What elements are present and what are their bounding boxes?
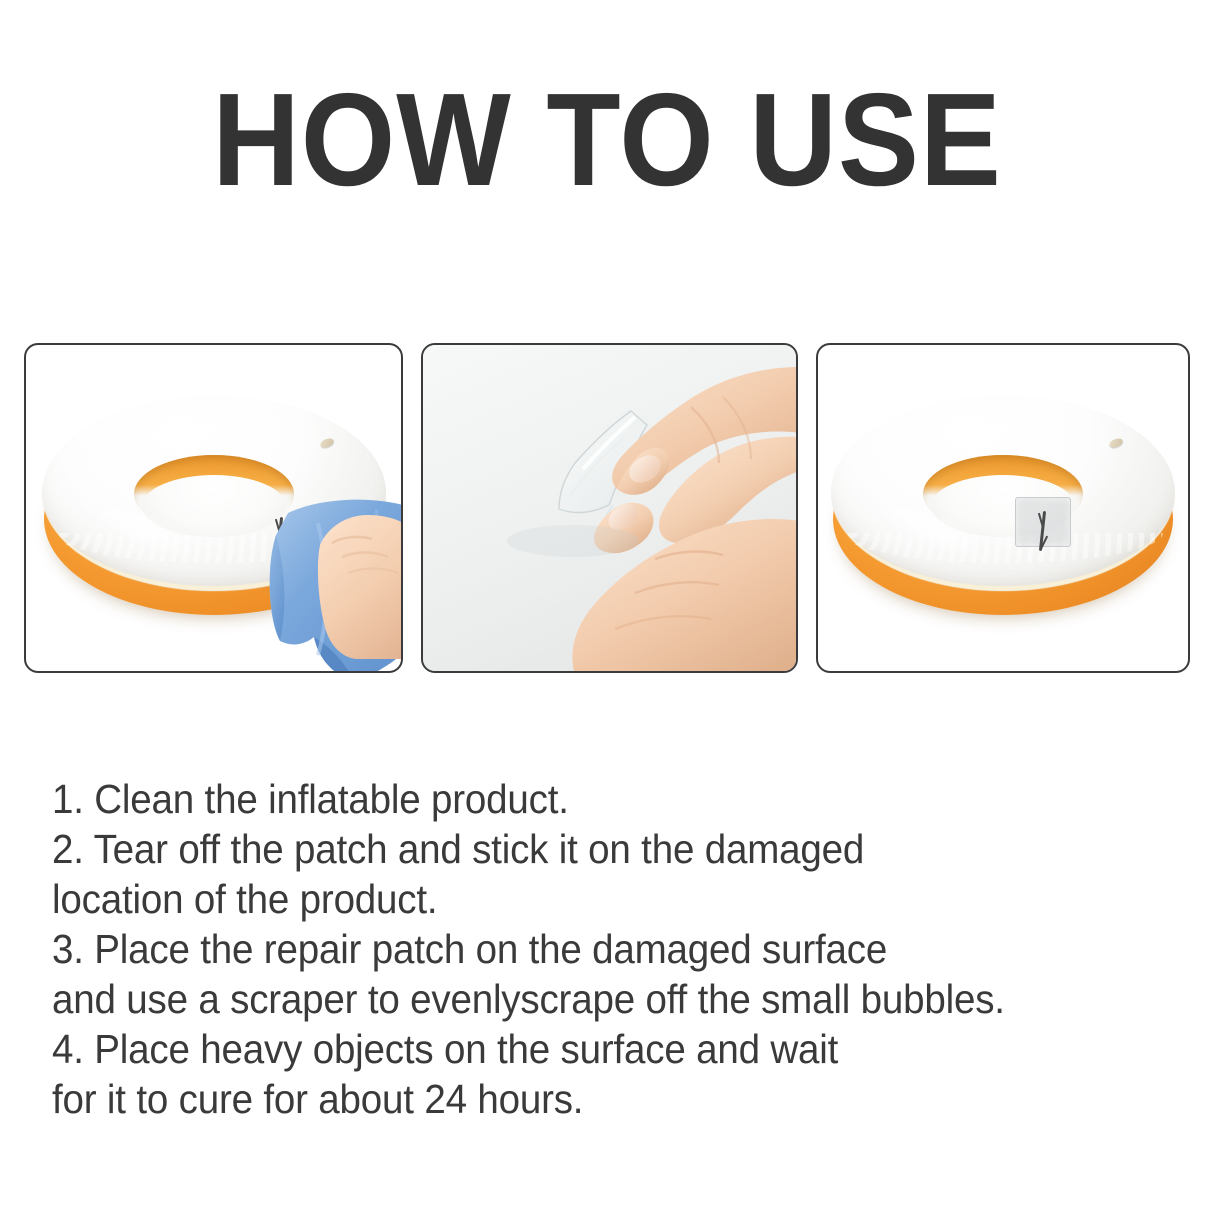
instructions-list: 1. Clean the inflatable product. 2. Tear…	[52, 774, 1114, 1124]
instruction-line: 1. Clean the inflatable product.	[52, 774, 1114, 824]
step-3-image-panel	[816, 343, 1190, 673]
instruction-line: 2. Tear off the patch and stick it on th…	[52, 824, 1114, 874]
hands-peeling-patch-illustration	[423, 345, 798, 673]
hand	[312, 509, 403, 659]
instruction-line: 4. Place heavy objects on the surface an…	[52, 1024, 1114, 1074]
step-3-scene	[818, 345, 1188, 671]
instruction-line: location of the product.	[52, 874, 1114, 924]
page-title: HOW TO USE	[49, 74, 1166, 206]
instruction-line: 3. Place the repair patch on the damaged…	[52, 924, 1114, 974]
step-1-image-panel	[24, 343, 403, 673]
step-1-scene	[26, 345, 401, 671]
instruction-line: for it to cure for about 24 hours.	[52, 1074, 1114, 1124]
steps-image-row	[24, 343, 1190, 673]
inflatable-ring	[827, 383, 1179, 633]
step-2-scene	[423, 345, 796, 671]
instruction-line: and use a scraper to evenlyscrape off th…	[52, 974, 1114, 1024]
step-2-image-panel	[421, 343, 798, 673]
